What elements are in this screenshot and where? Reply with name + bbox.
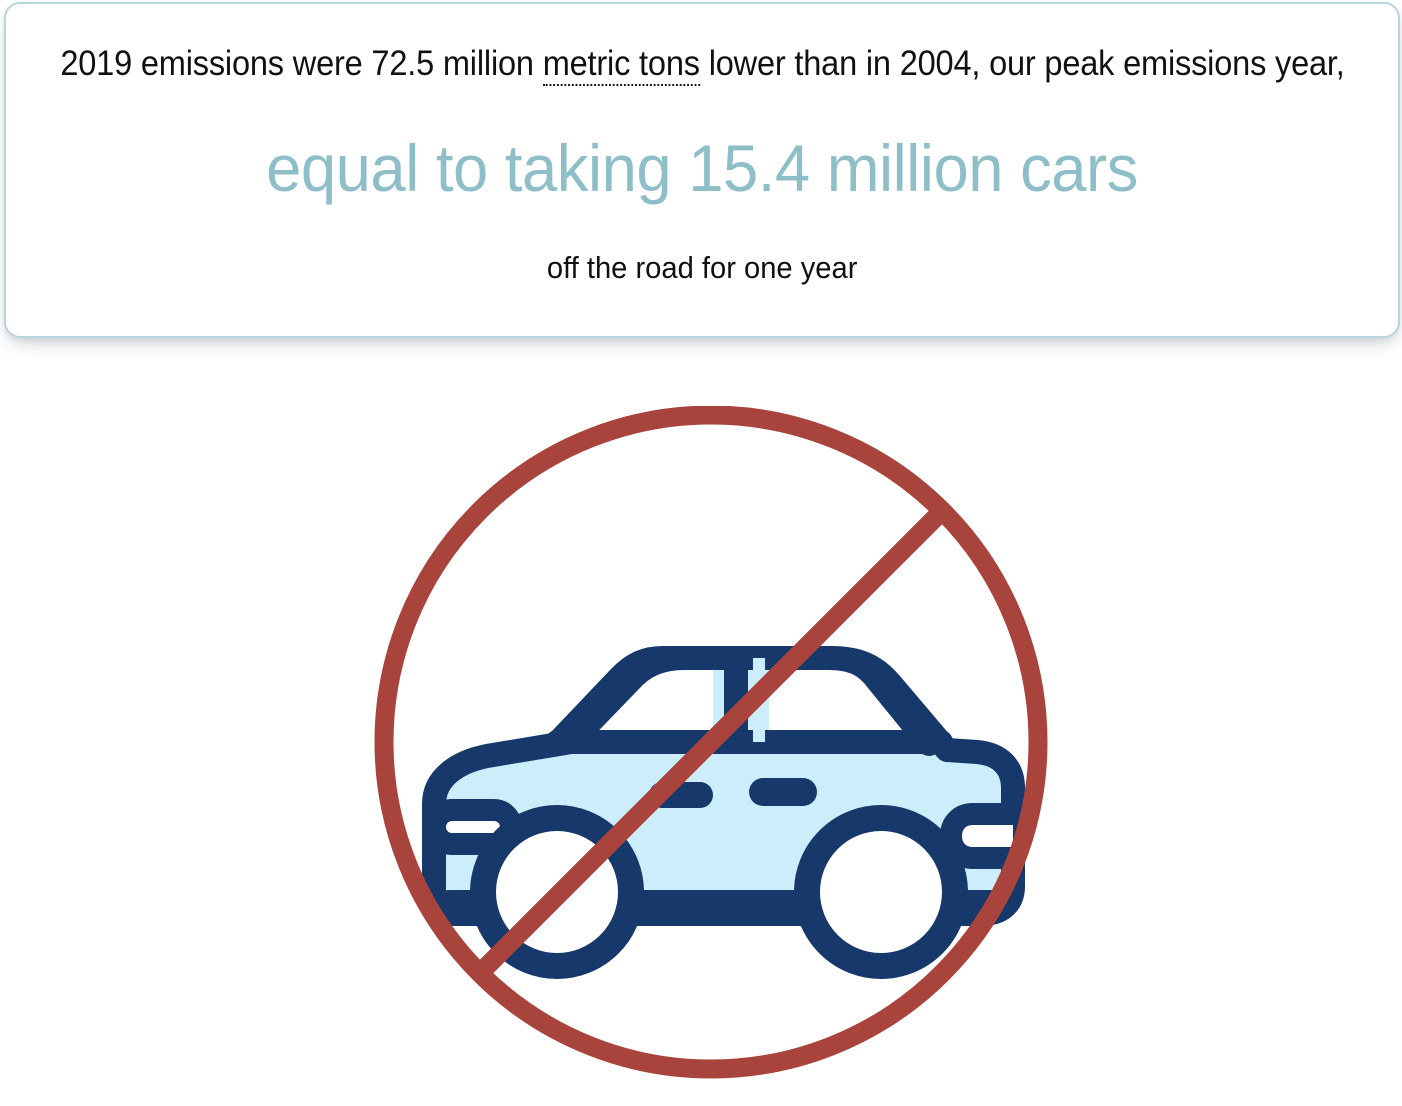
headline-prefix: 2019 emissions were 72.5 million [60,44,542,83]
headline-text: 2019 emissions were 72.5 million metric … [60,44,1344,84]
illustration-area [0,360,1402,1092]
highlight-text: equal to taking 15.4 million cars [266,134,1138,203]
car-rear-wheel [807,818,955,966]
car-taillight [951,814,1013,858]
emissions-stat-card: 2019 emissions were 72.5 million metric … [4,2,1400,338]
no-cars-icon [361,406,1061,1106]
subline-text: off the road for one year [547,250,858,286]
headline-suffix: lower than in 2004, our peak emissions y… [699,44,1344,83]
headline-emphasis-metric-tons[interactable]: metric tons [542,44,699,86]
stat-card-container: 2019 emissions were 72.5 million metric … [0,2,1402,340]
car-door-handle-rear [749,778,817,806]
